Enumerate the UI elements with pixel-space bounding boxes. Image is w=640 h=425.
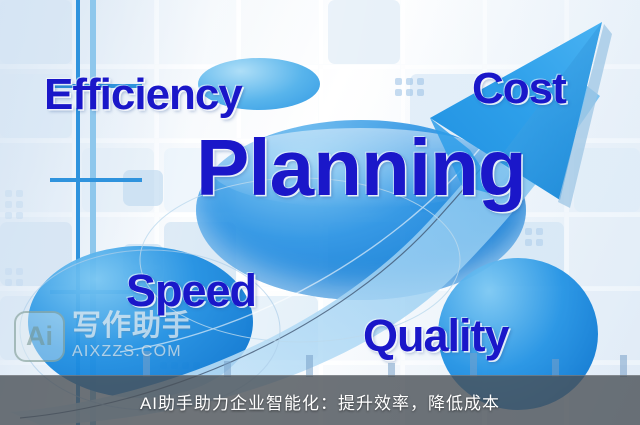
keyword-planning: Planning [196,122,526,214]
bottom-tick [306,355,313,377]
concept-image: Efficiency Planning Cost Speed Quality A… [0,0,640,425]
watermark-logo-icon: Ai [14,311,65,362]
watermark-brand-url: AIXZZS.COM [72,343,192,361]
watermark-text: 写作助手 AIXZZS.COM [72,311,192,361]
watermark: Ai 写作助手 AIXZZS.COM [14,311,192,362]
bottom-tick [620,355,627,377]
keyword-efficiency: Efficiency [44,70,242,120]
keyword-cost: Cost [472,64,566,114]
watermark-brand-cn: 写作助手 [72,311,192,341]
keyword-quality: Quality [363,310,509,362]
bottom-tick [470,353,477,377]
caption-band: AI助手助力企业智能化：提升效率，降低成本 [0,375,640,425]
caption-text: AI助手助力企业智能化：提升效率，降低成本 [140,389,500,414]
